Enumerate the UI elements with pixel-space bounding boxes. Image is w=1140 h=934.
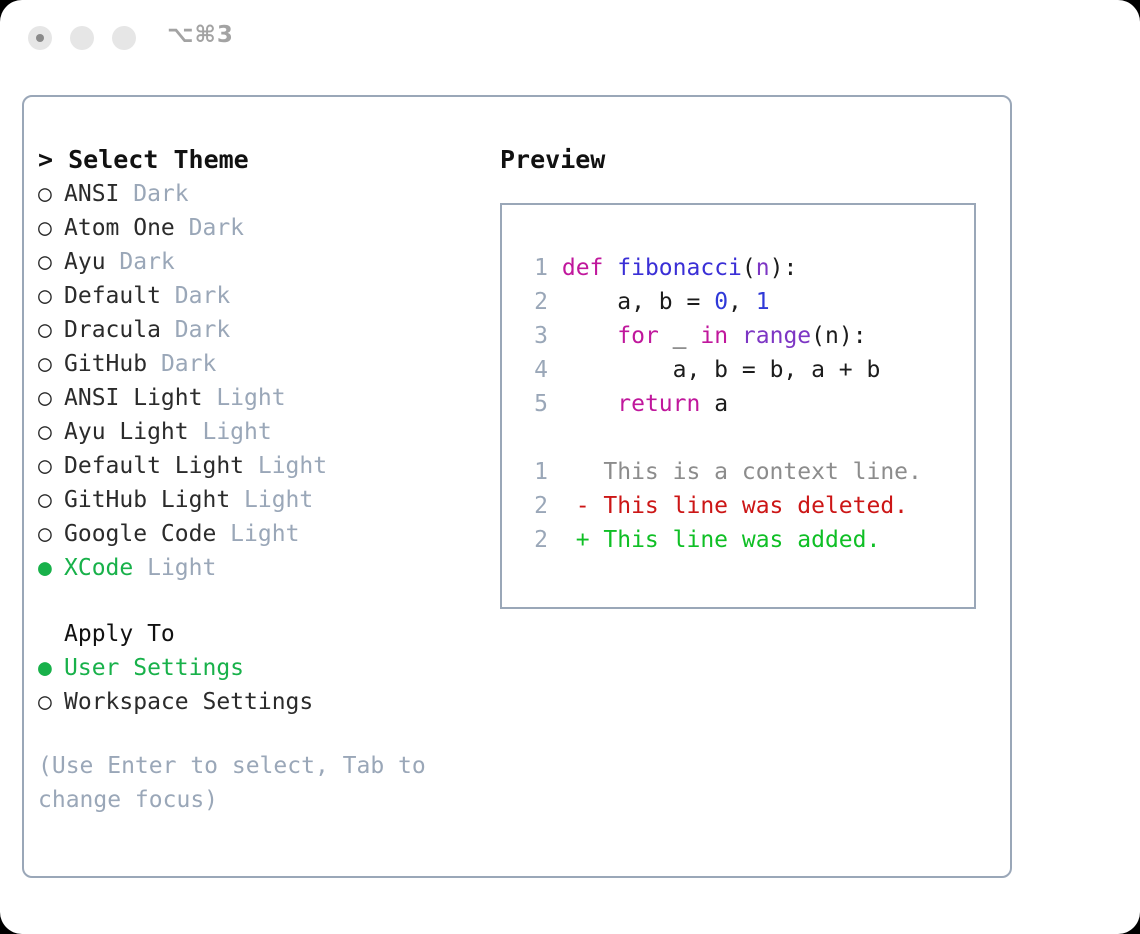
theme-variant-badge: Light: [133, 555, 216, 581]
theme-variant-badge: Light: [244, 453, 327, 479]
diff-text: - This line was deleted.: [548, 493, 908, 519]
code-line: 4 a, b = b, a + b: [520, 353, 966, 387]
diff-line: 2 + This line was added.: [520, 523, 966, 557]
keyboard-shortcut-label: ⌥⌘3: [167, 22, 234, 48]
code-token: def: [562, 255, 604, 281]
theme-name: Ayu: [64, 249, 106, 275]
diff-line: 1 This is a context line.: [520, 455, 966, 489]
radio-selected-icon: ●: [38, 551, 64, 585]
line-number: 2: [520, 285, 548, 319]
code-token: 1: [756, 289, 770, 315]
theme-name: Default Light: [64, 453, 244, 479]
diff-text: This is a context line.: [548, 459, 922, 485]
theme-list-item[interactable]: ○GitHub Dark: [38, 347, 488, 381]
theme-list-item[interactable]: ○Google Code Light: [38, 517, 488, 551]
select-theme-header: > Select Theme: [38, 143, 488, 177]
apply-to-title: Apply To: [38, 617, 488, 651]
theme-name: GitHub Light: [64, 487, 230, 513]
theme-name: ANSI: [64, 181, 119, 207]
theme-name: GitHub: [64, 351, 147, 377]
traffic-light-group: [28, 26, 136, 50]
theme-variant-badge: Light: [216, 521, 299, 547]
radio-unselected-icon: ○: [38, 347, 64, 381]
theme-list: ○ANSI Dark○Atom One Dark○Ayu Dark○Defaul…: [38, 177, 488, 585]
theme-name: Ayu Light: [64, 419, 189, 445]
radio-unselected-icon: ○: [38, 449, 64, 483]
theme-name: ANSI Light: [64, 385, 202, 411]
code-token: [562, 323, 617, 349]
radio-unselected-icon: ○: [38, 517, 64, 551]
code-token: a, b = b, a + b: [562, 357, 881, 383]
theme-variant-badge: Dark: [161, 317, 230, 343]
theme-list-item[interactable]: ○Ayu Light Light: [38, 415, 488, 449]
radio-selected-icon: ●: [38, 651, 64, 685]
theme-list-item[interactable]: ○Default Dark: [38, 279, 488, 313]
theme-variant-badge: Light: [189, 419, 272, 445]
code-token: a: [700, 391, 728, 417]
radio-unselected-icon: ○: [38, 313, 64, 347]
code-token: n: [756, 255, 770, 281]
code-token: range: [742, 323, 811, 349]
apply-to-options: ●User Settings○Workspace Settings: [38, 651, 488, 719]
app-window: ⌥⌘3 > Select Theme ○ANSI Dark○Atom One D…: [0, 0, 1140, 934]
theme-variant-badge: Dark: [175, 215, 244, 241]
code-token: [562, 391, 617, 417]
radio-unselected-icon: ○: [38, 245, 64, 279]
radio-unselected-icon: ○: [38, 211, 64, 245]
line-number: 1: [520, 251, 548, 285]
code-token: return: [617, 391, 700, 417]
theme-variant-badge: Dark: [106, 249, 175, 275]
theme-list-item[interactable]: ○GitHub Light Light: [38, 483, 488, 517]
preview-box: 1 def fibonacci(n):2 a, b = 0, 13 for _ …: [500, 203, 976, 609]
theme-list-column: > Select Theme ○ANSI Dark○Atom One Dark○…: [38, 143, 488, 817]
radio-unselected-icon: ○: [38, 177, 64, 211]
theme-variant-badge: Dark: [161, 283, 230, 309]
radio-unselected-icon: ○: [38, 685, 64, 719]
theme-list-item[interactable]: ●XCode Light: [38, 551, 488, 585]
zoom-window-icon[interactable]: [112, 26, 136, 50]
code-token: ):: [770, 255, 798, 281]
code-line: 2 a, b = 0, 1: [520, 285, 966, 319]
apply-to-section: Apply To ●User Settings○Workspace Settin…: [38, 617, 488, 719]
theme-selector-panel: > Select Theme ○ANSI Dark○Atom One Dark○…: [22, 95, 1012, 878]
apply-to-option[interactable]: ●User Settings: [38, 651, 488, 685]
apply-to-label: Workspace Settings: [64, 689, 313, 715]
code-token: in: [700, 323, 728, 349]
diff-line: 2 - This line was deleted.: [520, 489, 966, 523]
apply-to-option[interactable]: ○Workspace Settings: [38, 685, 488, 719]
radio-unselected-icon: ○: [38, 381, 64, 415]
theme-name: XCode: [64, 555, 133, 581]
theme-name: Google Code: [64, 521, 216, 547]
theme-list-item[interactable]: ○Dracula Dark: [38, 313, 488, 347]
theme-list-item[interactable]: ○Default Light Light: [38, 449, 488, 483]
code-token: fibonacci: [617, 255, 742, 281]
theme-name: Atom One: [64, 215, 175, 241]
theme-variant-badge: Dark: [147, 351, 216, 377]
code-token: a, b =: [562, 289, 714, 315]
code-line: 3 for _ in range(n):: [520, 319, 966, 353]
radio-unselected-icon: ○: [38, 279, 64, 313]
code-line: 5 return a: [520, 387, 966, 421]
diff-text: + This line was added.: [548, 527, 880, 553]
line-number: 4: [520, 353, 548, 387]
code-token: [603, 255, 617, 281]
theme-list-item[interactable]: ○ANSI Light Light: [38, 381, 488, 415]
code-token: [728, 323, 742, 349]
keyboard-hint-text: (Use Enter to select, Tab to change focu…: [38, 749, 448, 817]
radio-unselected-icon: ○: [38, 483, 64, 517]
preview-heading: Preview: [500, 143, 1000, 177]
code-token: (: [742, 255, 756, 281]
preview-column: Preview 1 def fibonacci(n):2 a, b = 0, 1…: [500, 143, 1000, 609]
code-token: (n):: [811, 323, 866, 349]
window-titlebar: ⌥⌘3: [0, 0, 1140, 78]
code-token: _: [659, 323, 701, 349]
theme-variant-badge: Light: [230, 487, 313, 513]
code-token: 0: [714, 289, 728, 315]
line-number: 3: [520, 319, 548, 353]
theme-name: Default: [64, 283, 161, 309]
theme-variant-badge: Dark: [119, 181, 188, 207]
theme-list-item[interactable]: ○Ayu Dark: [38, 245, 488, 279]
line-number: 5: [520, 387, 548, 421]
code-token: ,: [728, 289, 756, 315]
radio-unselected-icon: ○: [38, 415, 64, 449]
preview-spacer: [520, 421, 966, 455]
line-number: 2: [520, 523, 548, 557]
close-window-icon[interactable]: [28, 26, 52, 50]
minimize-window-icon[interactable]: [70, 26, 94, 50]
line-number: 1: [520, 455, 548, 489]
theme-name: Dracula: [64, 317, 161, 343]
theme-list-item[interactable]: ○Atom One Dark: [38, 211, 488, 245]
code-preview-area: 1 def fibonacci(n):2 a, b = 0, 13 for _ …: [520, 251, 966, 557]
theme-variant-badge: Light: [202, 385, 285, 411]
code-line: 1 def fibonacci(n):: [520, 251, 966, 285]
code-token: for: [617, 323, 659, 349]
line-number: 2: [520, 489, 548, 523]
apply-to-label: User Settings: [64, 655, 244, 681]
theme-list-item[interactable]: ○ANSI Dark: [38, 177, 488, 211]
